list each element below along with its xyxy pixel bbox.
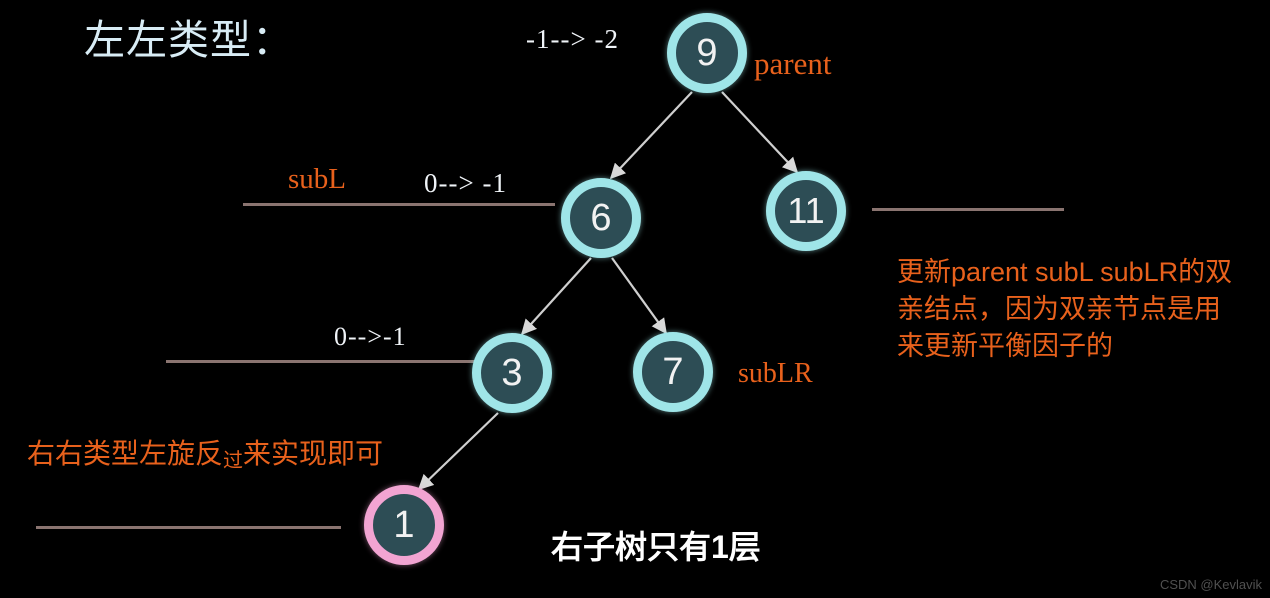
tree-node-7-label: 7 [662,353,683,391]
tree-node-11-label: 11 [787,193,824,229]
tree-node-9-label: 9 [696,34,717,72]
note-rotate-hint-part2: 来实现即可 [243,438,383,469]
edge-6-to-3 [522,258,591,334]
label-subl: subL [288,163,346,196]
balance-factor-root: -1--> -2 [526,24,619,55]
tree-node-1-label: 1 [393,506,414,544]
edge-9-to-11 [722,92,797,172]
edge-3-to-1 [419,413,498,489]
tree-node-6[interactable]: 6 [561,178,641,258]
level-rule-subl [243,203,555,206]
tree-node-6-label: 6 [590,199,611,237]
tree-node-3-label: 3 [501,354,522,392]
csdn-watermark: CSDN @Kevlavik [1160,577,1262,592]
diagram-canvas: 左左类型： 9 6 11 3 7 1 -1--> -2 0--> -1 0-->… [0,0,1270,598]
level-rule-leaf [36,526,341,529]
tree-node-1[interactable]: 1 [364,485,444,565]
level-rule-right [872,208,1064,211]
tree-node-11[interactable]: 11 [766,171,846,251]
page-title: 左左类型： [84,16,294,64]
note-right-subtree-depth: 右子树只有1层 [551,522,761,568]
level-rule-subl-child [166,360,478,363]
label-parent: parent [754,46,831,82]
note-update-parents: 更新parent subL subLR的双亲结点，因为双亲节点是用来更新平衡因子… [897,254,1237,365]
tree-node-9[interactable]: 9 [667,13,747,93]
edge-9-to-6 [611,92,692,178]
edge-6-to-7 [612,258,666,333]
note-rotate-hint: 右右类型左旋反过来实现即可 [27,432,383,473]
balance-factor-subl: 0--> -1 [424,168,507,199]
tree-node-3[interactable]: 3 [472,333,552,413]
note-rotate-hint-part1: 右右类型左旋反 [27,438,223,469]
note-rotate-hint-small: 过 [223,450,243,472]
balance-factor-subl-child: 0-->-1 [334,322,407,352]
tree-node-7[interactable]: 7 [633,332,713,412]
label-sublr: subLR [738,358,813,390]
